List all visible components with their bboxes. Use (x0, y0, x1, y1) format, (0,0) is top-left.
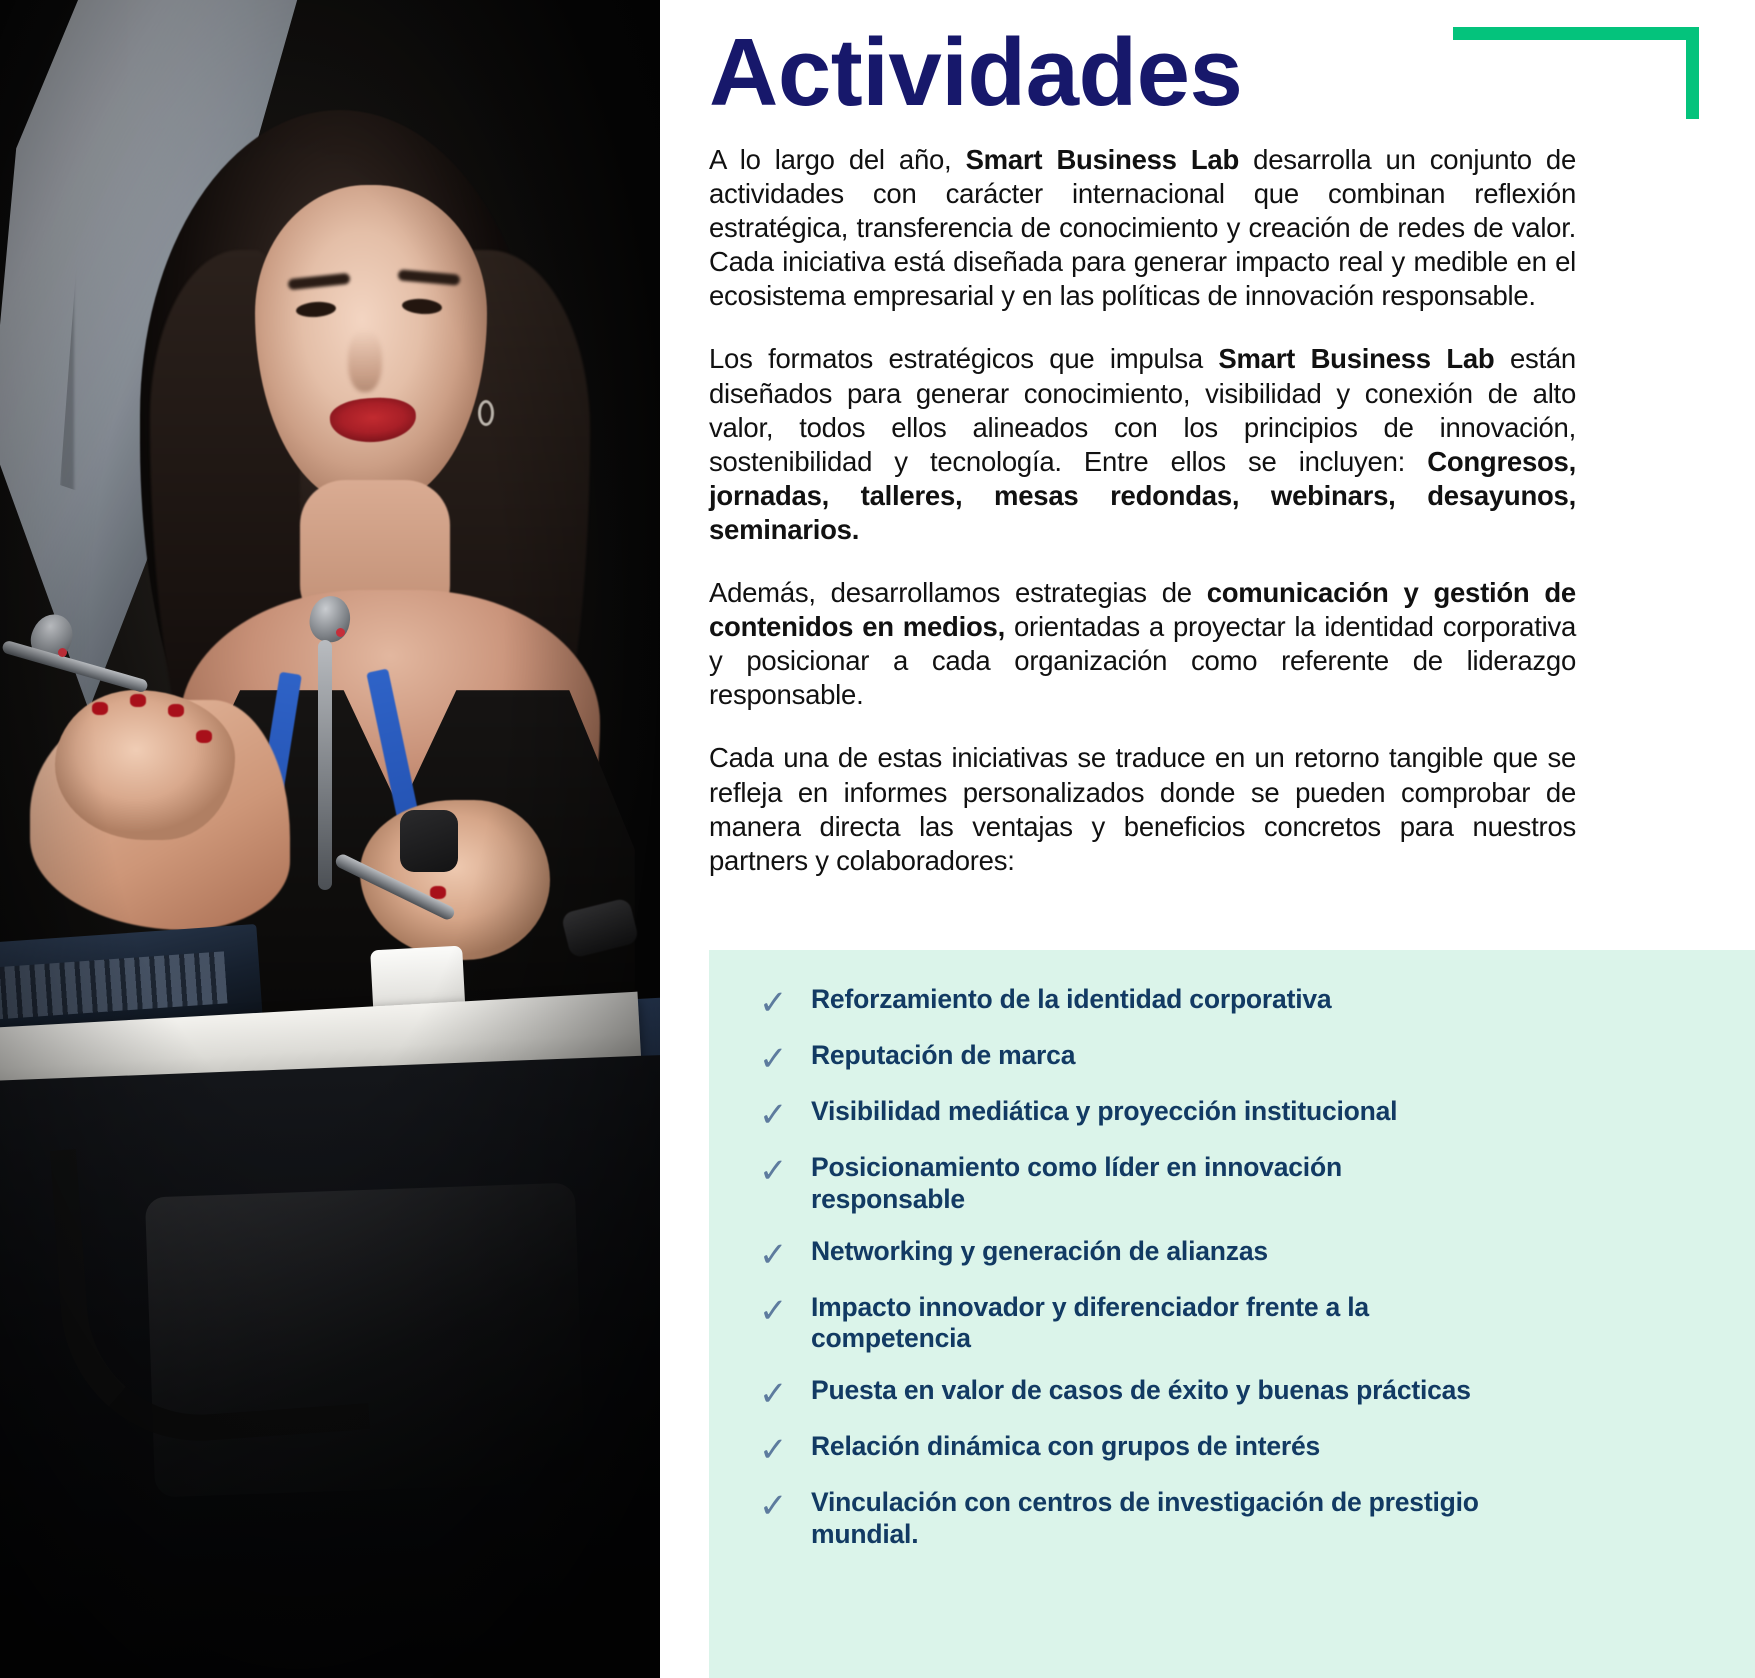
plain-text: Cada una de estas iniciativas se traduce… (709, 742, 1576, 875)
benefit-label: Vinculación con centros de investigación… (811, 1487, 1491, 1551)
speaker-photo (0, 0, 660, 1678)
page-title: Actividades (709, 22, 1242, 124)
benefits-list: ✓Reforzamiento de la identidad corporati… (739, 984, 1729, 1551)
benefit-item: ✓Relación dinámica con grupos de interés (739, 1431, 1729, 1467)
check-icon: ✓ (759, 1433, 789, 1467)
benefit-label: Networking y generación de alianzas (811, 1236, 1268, 1268)
microphone-arm-right (318, 640, 332, 890)
photo-nail (92, 702, 108, 715)
content-pane: Actividades A lo largo del año, Smart Bu… (660, 0, 1755, 1678)
check-icon: ✓ (759, 1154, 789, 1188)
plain-text: Los formatos estratégicos que impulsa (709, 343, 1218, 374)
emphasis-text: Smart Business Lab (1218, 343, 1494, 374)
benefit-item: ✓Impacto innovador y diferenciador frent… (739, 1292, 1729, 1356)
paragraph-comunicacion: Además, desarrollamos estrategias de com… (709, 576, 1576, 712)
photo-nail (130, 694, 146, 707)
benefits-panel: ✓Reforzamiento de la identidad corporati… (709, 950, 1755, 1678)
plain-text: A lo largo del año, (709, 144, 966, 175)
photo-presenter-clicker (400, 810, 458, 872)
benefit-item: ✓Reforzamiento de la identidad corporati… (739, 984, 1729, 1020)
check-icon: ✓ (759, 1489, 789, 1523)
check-icon: ✓ (759, 1294, 789, 1328)
benefit-label: Reputación de marca (811, 1040, 1075, 1072)
plain-text: Además, desarrollamos estrategias de (709, 577, 1207, 608)
check-icon: ✓ (759, 1238, 789, 1272)
microphone-indicator (336, 628, 345, 637)
benefit-item: ✓Networking y generación de alianzas (739, 1236, 1729, 1272)
benefit-item: ✓Puesta en valor de casos de éxito y bue… (739, 1375, 1729, 1411)
check-icon: ✓ (759, 1098, 789, 1132)
paragraph-intro: A lo largo del año, Smart Business Lab d… (709, 143, 1576, 313)
benefit-item: ✓Reputación de marca (739, 1040, 1729, 1076)
check-icon: ✓ (759, 1042, 789, 1076)
benefit-label: Posicionamiento como líder en innovación… (811, 1152, 1491, 1216)
check-icon: ✓ (759, 1377, 789, 1411)
benefit-label: Visibilidad mediática y proyección insti… (811, 1096, 1397, 1128)
benefit-label: Impacto innovador y diferenciador frente… (811, 1292, 1491, 1356)
benefit-item: ✓Visibilidad mediática y proyección inst… (739, 1096, 1729, 1132)
benefit-label: Relación dinámica con grupos de interés (811, 1431, 1320, 1463)
check-icon: ✓ (759, 986, 789, 1020)
photo-hand-left (55, 690, 235, 840)
photo-earring (478, 400, 494, 426)
photo-nail (168, 704, 184, 717)
paragraph-retorno: Cada una de estas iniciativas se traduce… (709, 741, 1576, 877)
green-corner-accent-icon (1453, 27, 1699, 119)
microphone-indicator (58, 648, 67, 657)
body-copy: A lo largo del año, Smart Business Lab d… (709, 143, 1576, 878)
photo-nail (196, 730, 212, 743)
benefit-label: Puesta en valor de casos de éxito y buen… (811, 1375, 1471, 1407)
photo-nose (348, 330, 382, 392)
benefit-item: ✓Vinculación con centros de investigació… (739, 1487, 1729, 1551)
slide-page: Actividades A lo largo del año, Smart Bu… (0, 0, 1755, 1678)
benefit-item: ✓Posicionamiento como líder en innovació… (739, 1152, 1729, 1216)
emphasis-text: Smart Business Lab (966, 144, 1239, 175)
paragraph-formatos: Los formatos estratégicos que impulsa Sm… (709, 342, 1576, 547)
benefit-label: Reforzamiento de la identidad corporativ… (811, 984, 1331, 1016)
